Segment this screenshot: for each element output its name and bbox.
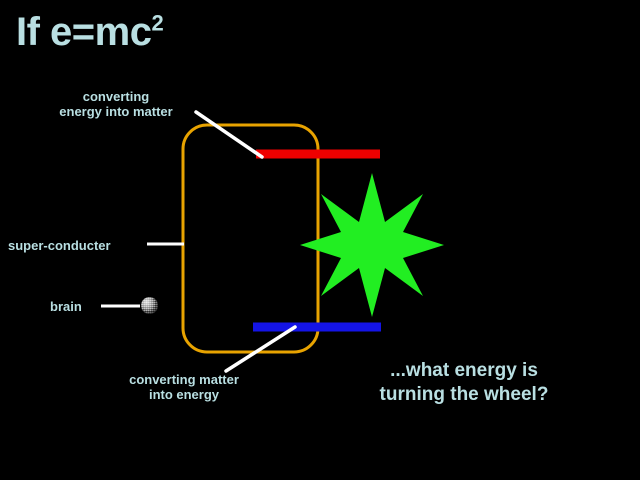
label-converting-energy-into-matter: converting energy into matter (36, 89, 196, 119)
leader-matter-to-energy-icon (226, 327, 295, 371)
label-converting-matter-into-energy: converting matter into energy (104, 372, 264, 402)
energy-burst-star (300, 173, 444, 317)
brain-texture (141, 297, 158, 314)
slide-title-text: If e=mc (16, 10, 151, 54)
question-line-2: turning the wheel? (344, 383, 584, 407)
question-line-1: ...what energy is (344, 359, 584, 383)
label-question: ...what energy is turning the wheel? (344, 359, 584, 407)
leader-energy-to-matter-icon (196, 112, 262, 157)
brain-sphere-icon (141, 297, 158, 314)
slide-title-exponent: 2 (151, 11, 163, 36)
slide-title: If e=mc2 (16, 12, 163, 52)
label-line-2: into energy (104, 387, 264, 402)
label-line-1: converting (36, 89, 196, 104)
slide-canvas: If e=mc2 converting energy into matter c… (0, 0, 640, 480)
label-brain: brain (50, 299, 102, 314)
label-super-conductor: super-conducter (8, 238, 148, 253)
label-line-1: converting matter (104, 372, 264, 387)
super-conductor-loop (183, 125, 318, 352)
label-line-2: energy into matter (36, 104, 196, 119)
